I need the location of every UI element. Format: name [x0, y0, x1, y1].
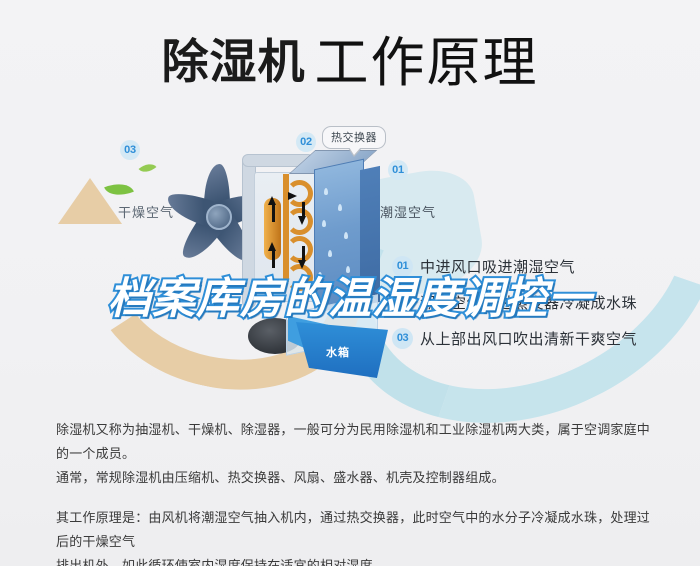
body-copy: 除湿机又称为抽湿机、干燥机、除湿器，一般可分为民用除湿机和工业除湿机两大类，属于… — [56, 418, 656, 566]
diagram-badge-01: 01 — [388, 160, 408, 180]
water-droplet-icon — [328, 250, 332, 257]
infographic-page: 除湿机工作原理 — [0, 0, 700, 566]
paragraph-1-line-2: 通常，常规除湿机由压缩机、热交换器、风扇、盛水器、机壳及控制器组成。 — [56, 466, 656, 490]
watermark-text: 档案库房的温湿度调控一 — [0, 264, 700, 326]
paragraph-2-line-1: 其工作原理是：由风机将潮湿空气抽入机内，通过热交换器，此时空气中的水分子冷凝成水… — [56, 506, 656, 554]
diagram-badge-02: 02 — [296, 132, 316, 152]
page-title-light: 工作原理 — [315, 33, 539, 93]
step-number-03: 03 — [392, 328, 413, 349]
water-droplet-icon — [338, 204, 342, 211]
paragraph-2-line-2: 排出机外，如此循环使室内湿度保持在适宜的相对湿度。 — [56, 554, 656, 566]
fan-hub — [206, 204, 232, 230]
water-droplet-icon — [322, 220, 326, 227]
water-droplet-icon — [324, 188, 328, 195]
paragraph-1-line-1: 除湿机又称为抽湿机、干燥机、除湿器，一般可分为民用除湿机和工业除湿机两大类，属于… — [56, 418, 656, 466]
page-title-bold: 除湿机 — [162, 35, 306, 88]
flow-arrow-down-icon — [298, 216, 306, 225]
step-text-03: 从上部出风口吹出清新干爽空气 — [420, 328, 637, 349]
humid-air-caption: 潮湿空气 — [380, 202, 436, 221]
page-title: 除湿机工作原理 — [0, 18, 700, 97]
leaf-icon — [139, 159, 157, 176]
flow-arrow-stem — [272, 204, 275, 222]
water-tank-label: 水箱 — [326, 344, 350, 360]
dry-air-caption: 干燥空气 — [118, 202, 174, 221]
flow-arrow-up-icon — [268, 196, 276, 205]
water-droplet-icon — [344, 232, 348, 239]
diagram-badge-03: 03 — [120, 140, 140, 160]
heat-exchanger-callout: 热交换器 — [322, 126, 386, 149]
flow-arrow-up-icon — [268, 242, 276, 251]
copper-coil-bend — [286, 236, 313, 263]
flow-arrow-right-icon — [288, 192, 297, 200]
